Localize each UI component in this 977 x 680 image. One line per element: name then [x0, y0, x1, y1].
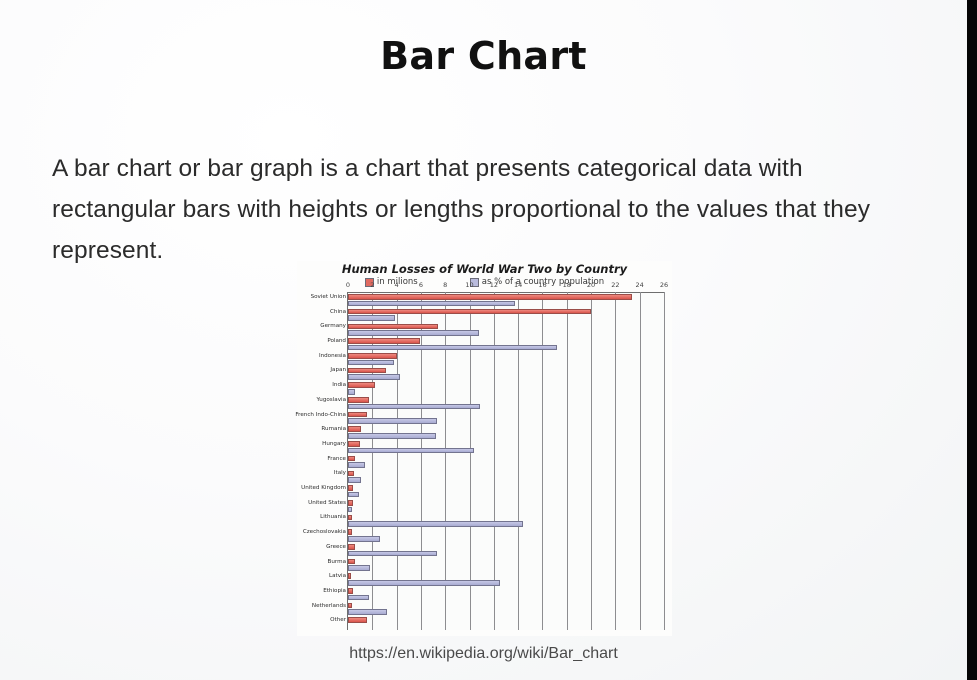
bar-in-millions [348, 456, 355, 462]
chart-category-row: French Indo-China [348, 410, 664, 425]
bar-percent-population [348, 301, 515, 307]
bar-in-millions [348, 368, 386, 374]
x-tick-label: 20 [587, 281, 595, 289]
chart-category-label: Soviet Union [256, 294, 346, 300]
bar-percent-population [348, 374, 400, 380]
x-tick-label: 0 [346, 281, 350, 289]
chart-category-label: Greece [256, 544, 346, 550]
bar-in-millions [348, 324, 438, 330]
chart-category-label: Other [256, 617, 346, 623]
bar-percent-population [348, 477, 361, 483]
chart-category-row: Burma [348, 557, 664, 572]
chart-category-label: Japan [256, 367, 346, 373]
bar-in-millions [348, 309, 591, 315]
slide-body-text: A bar chart or bar graph is a chart that… [52, 148, 897, 271]
bar-percent-population [348, 330, 479, 336]
chart-category-row: United States [348, 498, 664, 513]
chart-category-label: Indonesia [256, 353, 346, 359]
bar-in-millions [348, 573, 351, 579]
bar-percent-population [348, 595, 369, 601]
x-tick-label: 22 [611, 281, 619, 289]
chart-category-row: Rumania [348, 424, 664, 439]
bar-percent-population [348, 536, 380, 542]
bar-in-millions [348, 485, 353, 491]
chart-category-row: Soviet Union [348, 292, 664, 307]
chart-category-row: China [348, 307, 664, 322]
bar-percent-population [348, 315, 395, 321]
bar-in-millions [348, 588, 353, 594]
chart-category-row: Other [348, 615, 664, 630]
chart-title: Human Losses of World War Two by Country [297, 262, 672, 276]
chart-category-label: Poland [256, 338, 346, 344]
bar-in-millions [348, 441, 360, 447]
x-tick-label: 8 [443, 281, 447, 289]
chart-category-label: Lithuania [256, 514, 346, 520]
bar-percent-population [348, 609, 387, 615]
bar-in-millions [348, 338, 420, 344]
chart-category-label: United Kingdom [256, 485, 346, 491]
chart-category-row: India [348, 380, 664, 395]
chart-category-label: Hungary [256, 441, 346, 447]
x-tick-label: 24 [636, 281, 644, 289]
bar-in-millions [348, 426, 361, 432]
right-edge-band [967, 0, 977, 680]
chart-category-label: India [256, 382, 346, 388]
x-tick-label: 14 [514, 281, 522, 289]
bar-in-millions [348, 412, 367, 418]
chart-category-label: Germany [256, 323, 346, 329]
bar-percent-population [348, 345, 557, 351]
chart-category-row: Netherlands [348, 601, 664, 616]
source-url-text: https://en.wikipedia.org/wiki/Bar_chart [0, 645, 967, 663]
bar-in-millions [348, 397, 369, 403]
chart-category-label: Burma [256, 559, 346, 565]
chart-category-row: Japan [348, 365, 664, 380]
bar-percent-population [348, 404, 480, 410]
chart-category-row: Germany [348, 321, 664, 336]
chart-category-row: Italy [348, 468, 664, 483]
bar-in-millions [348, 559, 355, 565]
bar-percent-population [348, 448, 474, 454]
chart-category-row: Lithuania [348, 512, 664, 527]
bar-in-millions [348, 294, 632, 300]
presentation-slide: Bar Chart A bar chart or bar graph is a … [0, 0, 967, 680]
bar-in-millions [348, 382, 375, 388]
bar-in-millions [348, 544, 355, 550]
chart-category-row: Poland [348, 336, 664, 351]
bar-in-millions [348, 603, 352, 609]
chart-category-row: Hungary [348, 439, 664, 454]
bar-percent-population [348, 551, 437, 557]
bar-in-millions [348, 471, 354, 477]
chart-category-row: France [348, 454, 664, 469]
x-tick-label: 12 [490, 281, 498, 289]
bar-percent-population [348, 492, 359, 498]
x-tick-label: 10 [465, 281, 473, 289]
bar-in-millions [348, 617, 367, 623]
bar-percent-population [348, 565, 370, 571]
bar-in-millions [348, 529, 352, 535]
chart-category-row: Latvia [348, 571, 664, 586]
chart-category-label: French Indo-China [256, 412, 346, 418]
chart-category-row: Ethiopia [348, 586, 664, 601]
chart-category-row: Yugoslavia [348, 395, 664, 410]
page-title: Bar Chart [0, 34, 967, 78]
chart-category-row: Indonesia [348, 351, 664, 366]
bar-percent-population [348, 433, 436, 439]
chart-category-row: Greece [348, 542, 664, 557]
chart-category-label: Yugoslavia [256, 397, 346, 403]
embedded-bar-chart-image: Human Losses of World War Two by Country… [297, 261, 672, 636]
x-tick-label: 18 [563, 281, 571, 289]
x-tick-label: 16 [538, 281, 546, 289]
chart-category-label: Latvia [256, 573, 346, 579]
bar-in-millions [348, 515, 352, 521]
chart-category-label: Netherlands [256, 603, 346, 609]
chart-category-label: United States [256, 500, 346, 506]
bar-percent-population [348, 389, 355, 395]
chart-category-label: Ethiopia [256, 588, 346, 594]
x-tick-label: 26 [660, 281, 668, 289]
bar-percent-population [348, 507, 352, 513]
chart-category-row: United Kingdom [348, 483, 664, 498]
bar-percent-population [348, 360, 394, 366]
chart-category-label: Italy [256, 470, 346, 476]
bar-percent-population [348, 418, 437, 424]
bar-percent-population [348, 580, 500, 586]
x-tick-label: 4 [395, 281, 399, 289]
chart-category-label: France [256, 456, 346, 462]
x-tick-label: 6 [419, 281, 423, 289]
chart-category-label: China [256, 309, 346, 315]
chart-category-row: Czechoslovakia [348, 527, 664, 542]
bar-percent-population [348, 521, 523, 527]
bar-in-millions [348, 353, 397, 359]
chart-plot-area: 02468101214161820222426Soviet UnionChina… [347, 292, 664, 630]
chart-gridline [664, 292, 665, 630]
x-tick-label: 2 [370, 281, 374, 289]
chart-category-label: Czechoslovakia [256, 529, 346, 535]
chart-category-label: Rumania [256, 426, 346, 432]
bar-percent-population [348, 462, 365, 468]
bar-in-millions [348, 500, 353, 506]
